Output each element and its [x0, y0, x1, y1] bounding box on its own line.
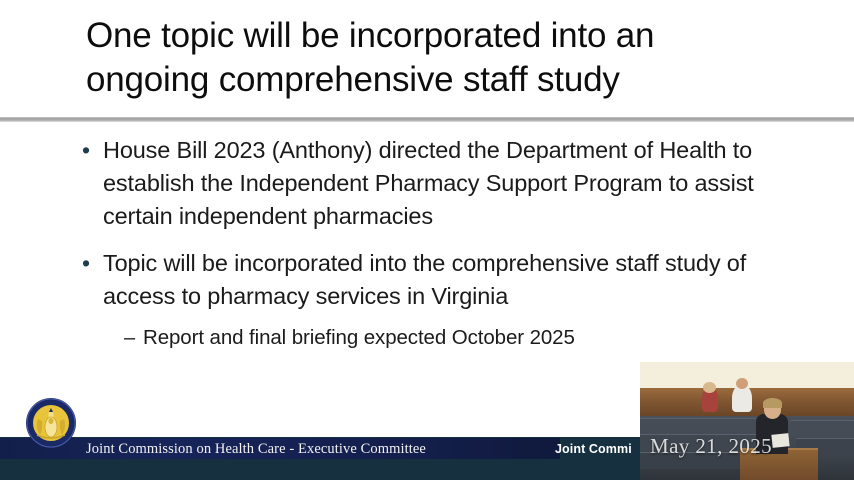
list-item: • Topic will be incorporated into the co… [82, 247, 782, 313]
bullet-point-icon: • [82, 134, 103, 167]
slide-body: • House Bill 2023 (Anthony) directed the… [82, 134, 782, 353]
presentation-slide: One topic will be incorporated into an o… [0, 0, 854, 480]
list-item: • House Bill 2023 (Anthony) directed the… [82, 134, 782, 233]
bullet-text: House Bill 2023 (Anthony) directed the D… [103, 134, 782, 233]
video-speaker-papers [771, 433, 789, 448]
bullet-point-icon: • [82, 247, 103, 280]
bullet-text: Topic will be incorporated into the comp… [103, 247, 782, 313]
video-pip-overlay[interactable]: May 21, 2025 [640, 362, 854, 480]
title-divider [0, 117, 854, 122]
video-attendee-head [703, 382, 716, 393]
footer-organization-label: Joint Commission on Health Care - Execut… [86, 439, 426, 459]
sub-list-item: – Report and final briefing expected Oct… [124, 323, 782, 353]
video-seat-row [640, 418, 756, 435]
video-lower-third-label: Joint Commi [555, 440, 640, 459]
video-attendee-head [736, 378, 748, 389]
dash-bullet-icon: – [124, 323, 143, 353]
video-speaker-hair [763, 398, 782, 408]
sub-bullet-text: Report and final briefing expected Octob… [143, 323, 782, 353]
slide-title-block: One topic will be incorporated into an o… [86, 14, 786, 102]
page-title: One topic will be incorporated into an o… [86, 14, 786, 102]
video-seat-row [790, 420, 854, 437]
video-date-caption: May 21, 2025 [650, 434, 772, 458]
jchc-seal-icon [25, 397, 77, 449]
